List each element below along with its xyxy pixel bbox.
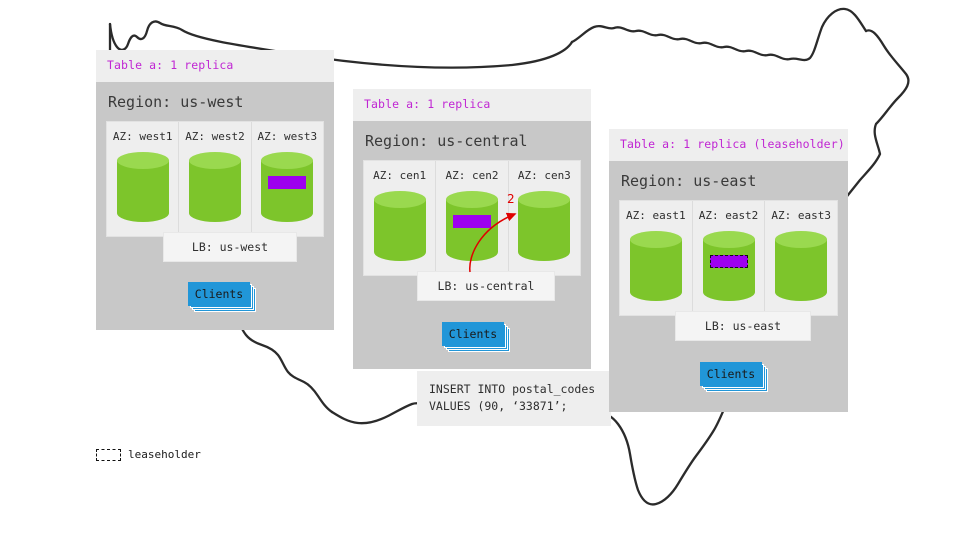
node-cylinder-west1[interactable] xyxy=(117,152,169,226)
clients-us-west[interactable]: Clients xyxy=(188,282,250,306)
az-strip-us-central: AZ: cen1 AZ: cen2 AZ: cen3 xyxy=(363,160,581,276)
replica-badge-east2-leaseholder xyxy=(710,255,748,268)
az-label-cen2: AZ: cen2 xyxy=(446,169,499,182)
region-body-us-central: Region: us-central AZ: cen1 AZ: cen2 xyxy=(353,121,591,286)
az-label-cen1: AZ: cen1 xyxy=(373,169,426,182)
cylinder-top xyxy=(630,231,682,248)
az-strip-us-east: AZ: east1 AZ: east2 AZ: east3 xyxy=(619,200,838,316)
table-replica-header-us-east: Table a: 1 replica (leaseholder) xyxy=(609,129,848,161)
cylinder-body xyxy=(117,160,169,222)
node-cylinder-cen3[interactable] xyxy=(518,191,570,265)
az-cell-east3[interactable]: AZ: east3 xyxy=(765,201,837,315)
az-strip-us-west: AZ: west1 AZ: west2 AZ: west3 xyxy=(106,121,324,237)
replica-badge-cen2 xyxy=(453,215,491,228)
az-label-east3: AZ: east3 xyxy=(771,209,831,222)
cylinder-body xyxy=(261,160,313,222)
load-balancer-us-central[interactable]: LB: us-central xyxy=(417,271,555,301)
az-label-west1: AZ: west1 xyxy=(113,130,173,143)
cylinder-top xyxy=(518,191,570,208)
diagram-canvas: Table a: 1 replica Region: us-west AZ: w… xyxy=(0,0,960,540)
az-label-west3: AZ: west3 xyxy=(258,130,318,143)
replica-badge-west3 xyxy=(268,176,306,189)
region-body-us-west: Region: us-west AZ: west1 AZ: west2 xyxy=(96,82,334,247)
az-cell-west1[interactable]: AZ: west1 xyxy=(107,122,179,236)
cylinder-top xyxy=(374,191,426,208)
region-title-us-central: Region: us-central xyxy=(363,121,581,160)
az-cell-east2[interactable]: AZ: east2 xyxy=(693,201,766,315)
region-title-us-west: Region: us-west xyxy=(106,82,324,121)
region-body-us-east: Region: us-east AZ: east1 AZ: east2 xyxy=(609,161,848,326)
cylinder-body xyxy=(703,239,755,301)
cylinder-top xyxy=(703,231,755,248)
clients-label-us-central[interactable]: Clients xyxy=(442,322,504,346)
legend-label: leaseholder xyxy=(128,448,201,461)
cylinder-top xyxy=(117,152,169,169)
az-cell-cen3[interactable]: AZ: cen3 xyxy=(509,161,580,275)
az-cell-west3[interactable]: AZ: west3 xyxy=(252,122,323,236)
clients-label-us-west[interactable]: Clients xyxy=(188,282,250,306)
node-cylinder-east1[interactable] xyxy=(630,231,682,305)
legend: leaseholder xyxy=(96,448,201,461)
node-cylinder-west3[interactable] xyxy=(261,152,313,226)
cylinder-body xyxy=(630,239,682,301)
region-title-us-east: Region: us-east xyxy=(619,161,838,200)
cylinder-body xyxy=(446,199,498,261)
az-cell-cen2[interactable]: AZ: cen2 xyxy=(436,161,508,275)
cylinder-top xyxy=(189,152,241,169)
load-balancer-us-east[interactable]: LB: us-east xyxy=(675,311,811,341)
node-cylinder-east2[interactable] xyxy=(703,231,755,305)
load-balancer-us-west[interactable]: LB: us-west xyxy=(163,232,297,262)
cylinder-body xyxy=(518,199,570,261)
az-cell-cen1[interactable]: AZ: cen1 xyxy=(364,161,436,275)
clients-label-us-east[interactable]: Clients xyxy=(700,362,762,386)
clients-us-central[interactable]: Clients xyxy=(442,322,504,346)
az-label-east2: AZ: east2 xyxy=(699,209,759,222)
cylinder-top xyxy=(261,152,313,169)
table-replica-header-us-central: Table a: 1 replica xyxy=(353,89,591,121)
node-cylinder-west2[interactable] xyxy=(189,152,241,226)
cylinder-top xyxy=(446,191,498,208)
step-number-2: 2 xyxy=(507,192,515,206)
az-label-cen3: AZ: cen3 xyxy=(518,169,571,182)
cylinder-top xyxy=(775,231,827,248)
cylinder-body xyxy=(374,199,426,261)
clients-us-east[interactable]: Clients xyxy=(700,362,762,386)
az-cell-east1[interactable]: AZ: east1 xyxy=(620,201,693,315)
az-label-east1: AZ: east1 xyxy=(626,209,686,222)
az-cell-west2[interactable]: AZ: west2 xyxy=(179,122,251,236)
node-cylinder-cen2[interactable] xyxy=(446,191,498,265)
az-label-west2: AZ: west2 xyxy=(185,130,245,143)
cylinder-body xyxy=(189,160,241,222)
table-replica-header-us-west: Table a: 1 replica xyxy=(96,50,334,82)
cylinder-body xyxy=(775,239,827,301)
sql-statement-note: INSERT INTO postal_codes VALUES (90, ‘33… xyxy=(417,371,611,426)
node-cylinder-cen1[interactable] xyxy=(374,191,426,265)
node-cylinder-east3[interactable] xyxy=(775,231,827,305)
dashed-rect-icon xyxy=(96,449,121,461)
